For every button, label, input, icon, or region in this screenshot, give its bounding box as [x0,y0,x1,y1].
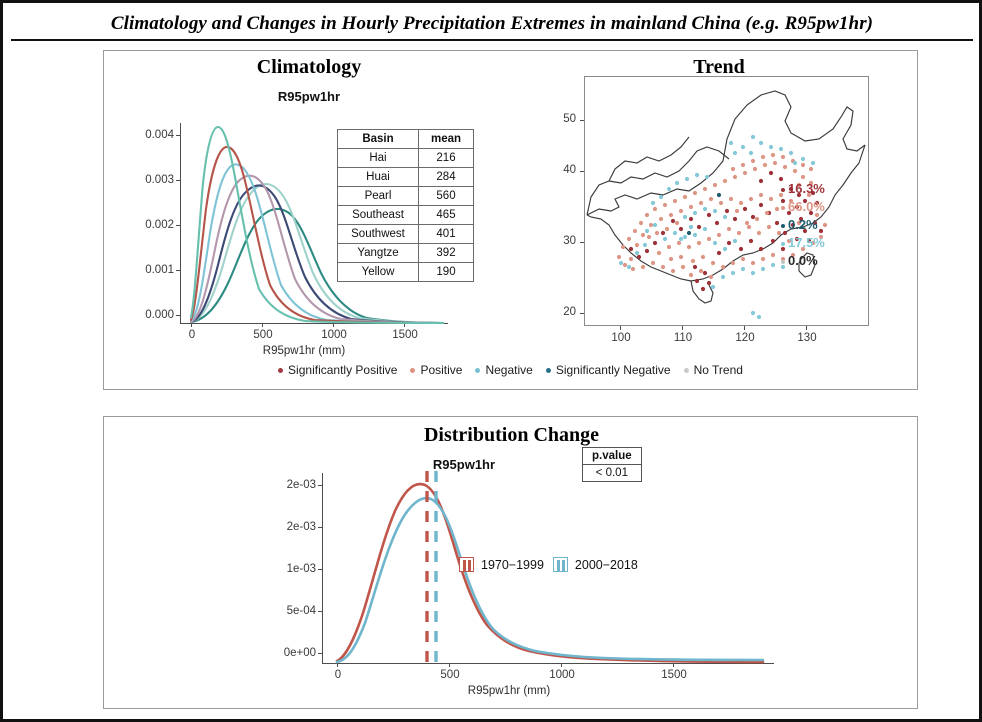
legend-label: 1970−1999 [481,558,544,572]
table-row: Huai 284 [338,168,474,187]
legend-item-2000-2018: 2000−2018 [553,557,638,572]
map-xtick-2: 120 [720,332,770,344]
clim-ytick-1: 0.001 [112,264,174,276]
legend-label: Negative [485,363,532,377]
legend-item-no-trend: No Trend [684,363,743,377]
map-stat-positive: 66.0% [781,199,825,214]
dist-x-axis-title: R95pw1hr (mm) [399,685,619,697]
figure-page: Climatology and Changes in Hourly Precip… [0,0,982,722]
legend-label: Significantly Positive [288,363,397,377]
cell-basin: Southeast [338,206,419,225]
clim-x-axis-title: R95pw1hr (mm) [194,345,414,357]
title-divider [11,39,973,41]
climatology-heading: Climatology [144,56,474,79]
dist-ytick-mark-3 [318,527,322,528]
legend-dot-icon [546,368,551,373]
table-row: Yellow 190 [338,263,474,282]
map-xtick-mark-3 [806,326,807,330]
climatology-subheading: R95pw1hr [144,89,474,104]
clim-ytick-mark-2 [176,225,180,226]
legend-label: Significantly Negative [556,363,671,377]
dist-xtick-3: 1500 [649,669,699,681]
legend-label: 2000−2018 [575,558,638,572]
cell-mean: 284 [419,168,474,187]
clim-ytick-mark-3 [176,180,180,181]
map-stat-significantly-positive: 16.3% [781,181,825,196]
cell-mean: 190 [419,263,474,282]
legend-item-negative: Negative [475,363,532,377]
map-svg [585,77,868,325]
cell-basin: Yellow [338,263,419,282]
basin-mean-table: Basin mean Hai 216 Huai 284 Pearl 560 [337,129,474,282]
dist-ytick-mark-1 [318,611,322,612]
table-row: Hai 216 [338,149,474,168]
map-xtick-1: 110 [658,332,708,344]
cell-basin: Pearl [338,187,419,206]
legend-dot-icon [410,368,415,373]
dist-ytick-3: 2e-03 [254,521,316,533]
legend-item-significantly-negative: Significantly Negative [546,363,671,377]
dist-ytick-4: 2e-03 [254,479,316,491]
clim-ytick-2: 0.002 [112,219,174,231]
map-stat-dot [781,188,785,192]
dist-ytick-2: 1e-03 [254,563,316,575]
table-row: Pearl 560 [338,187,474,206]
legend-item-significantly-positive: Significantly Positive [278,363,397,377]
clim-ytick-3: 0.003 [112,174,174,186]
table-header-row: Basin mean [338,130,474,149]
clim-xtick-0: 0 [167,329,217,341]
legend-item-1970-1999: 1970−1999 [459,557,544,572]
dist-ytick-1: 5e-04 [254,605,316,617]
cell-basin: Southwest [338,225,419,244]
map-stat-dot [781,206,785,210]
cell-mean: 465 [419,206,474,225]
china-border-outline [587,91,865,303]
distribution-heading: Distribution Change [104,424,919,447]
clim-xtick-2: 1000 [309,329,359,341]
dist-ytick-mark-2 [318,569,322,570]
legend-dot-icon [278,368,283,373]
dist-xtick-0: 0 [313,669,363,681]
cell-basin: Yangtze [338,244,419,263]
pvalue-header: p.value [583,448,641,465]
map-stat-dot [781,242,785,246]
cell-mean: 401 [419,225,474,244]
legend-dot-icon [475,368,480,373]
map-xtick-0: 100 [596,332,646,344]
map-ytick-0: 20 [534,306,576,318]
cell-basin: Hai [338,149,419,168]
legend-dot-icon [684,368,689,373]
legend-key-icon [553,557,568,572]
map-stat-dot [781,224,785,228]
map-xtick-mark-1 [682,326,683,330]
legend-label: Positive [420,363,462,377]
dist-xtick-1: 500 [425,669,475,681]
china-map: 16.3% 66.0% 0.2% 17.5% 0.0% [584,76,869,326]
clim-ytick-0: 0.000 [112,309,174,321]
map-xtick-mark-2 [744,326,745,330]
dist-ytick-0: 0e+00 [254,647,316,659]
map-ytick-1: 30 [534,235,576,247]
table-row: Southwest 401 [338,225,474,244]
map-stat-dot [781,260,785,264]
panel-bottom: Distribution Change R95pw1hr p.value < 0… [103,416,918,709]
trend-legend: Significantly Positive Positive Negative… [104,363,917,377]
cell-mean: 392 [419,244,474,263]
period-legend: 1970−1999 2000−2018 [459,557,638,572]
dist-xtick-2: 1000 [537,669,587,681]
map-stat-no-trend: 0.0% [781,253,818,268]
clim-ytick-mark-0 [176,315,180,316]
clim-xtick-3: 1500 [380,329,430,341]
table-row: Southeast 465 [338,206,474,225]
legend-label: No Trend [694,363,743,377]
map-xtick-mark-0 [620,326,621,330]
legend-key-icon [459,557,474,572]
table-row: Yangtze 392 [338,244,474,263]
figure-title: Climatology and Changes in Hourly Precip… [11,7,973,41]
cell-basin: Huai [338,168,419,187]
clim-ytick-mark-1 [176,270,180,271]
map-xtick-3: 130 [782,332,832,344]
clim-ytick-mark-4 [176,135,180,136]
map-stat-significantly-negative: 0.2% [781,217,818,232]
panel-top: Climatology R95pw1hr 0.000 0.001 0.002 0… [103,50,918,390]
clim-ytick-4: 0.004 [112,129,174,141]
map-ytick-2: 40 [534,164,576,176]
table-header-basin: Basin [338,130,419,149]
dist-ytick-mark-4 [318,485,322,486]
clim-xtick-1: 500 [238,329,288,341]
cell-mean: 560 [419,187,474,206]
dist-ytick-mark-0 [318,653,322,654]
legend-item-positive: Positive [410,363,462,377]
map-ytick-3: 50 [534,113,576,125]
map-stat-negative: 17.5% [781,235,825,250]
cell-mean: 216 [419,149,474,168]
table-header-mean: mean [419,130,474,149]
